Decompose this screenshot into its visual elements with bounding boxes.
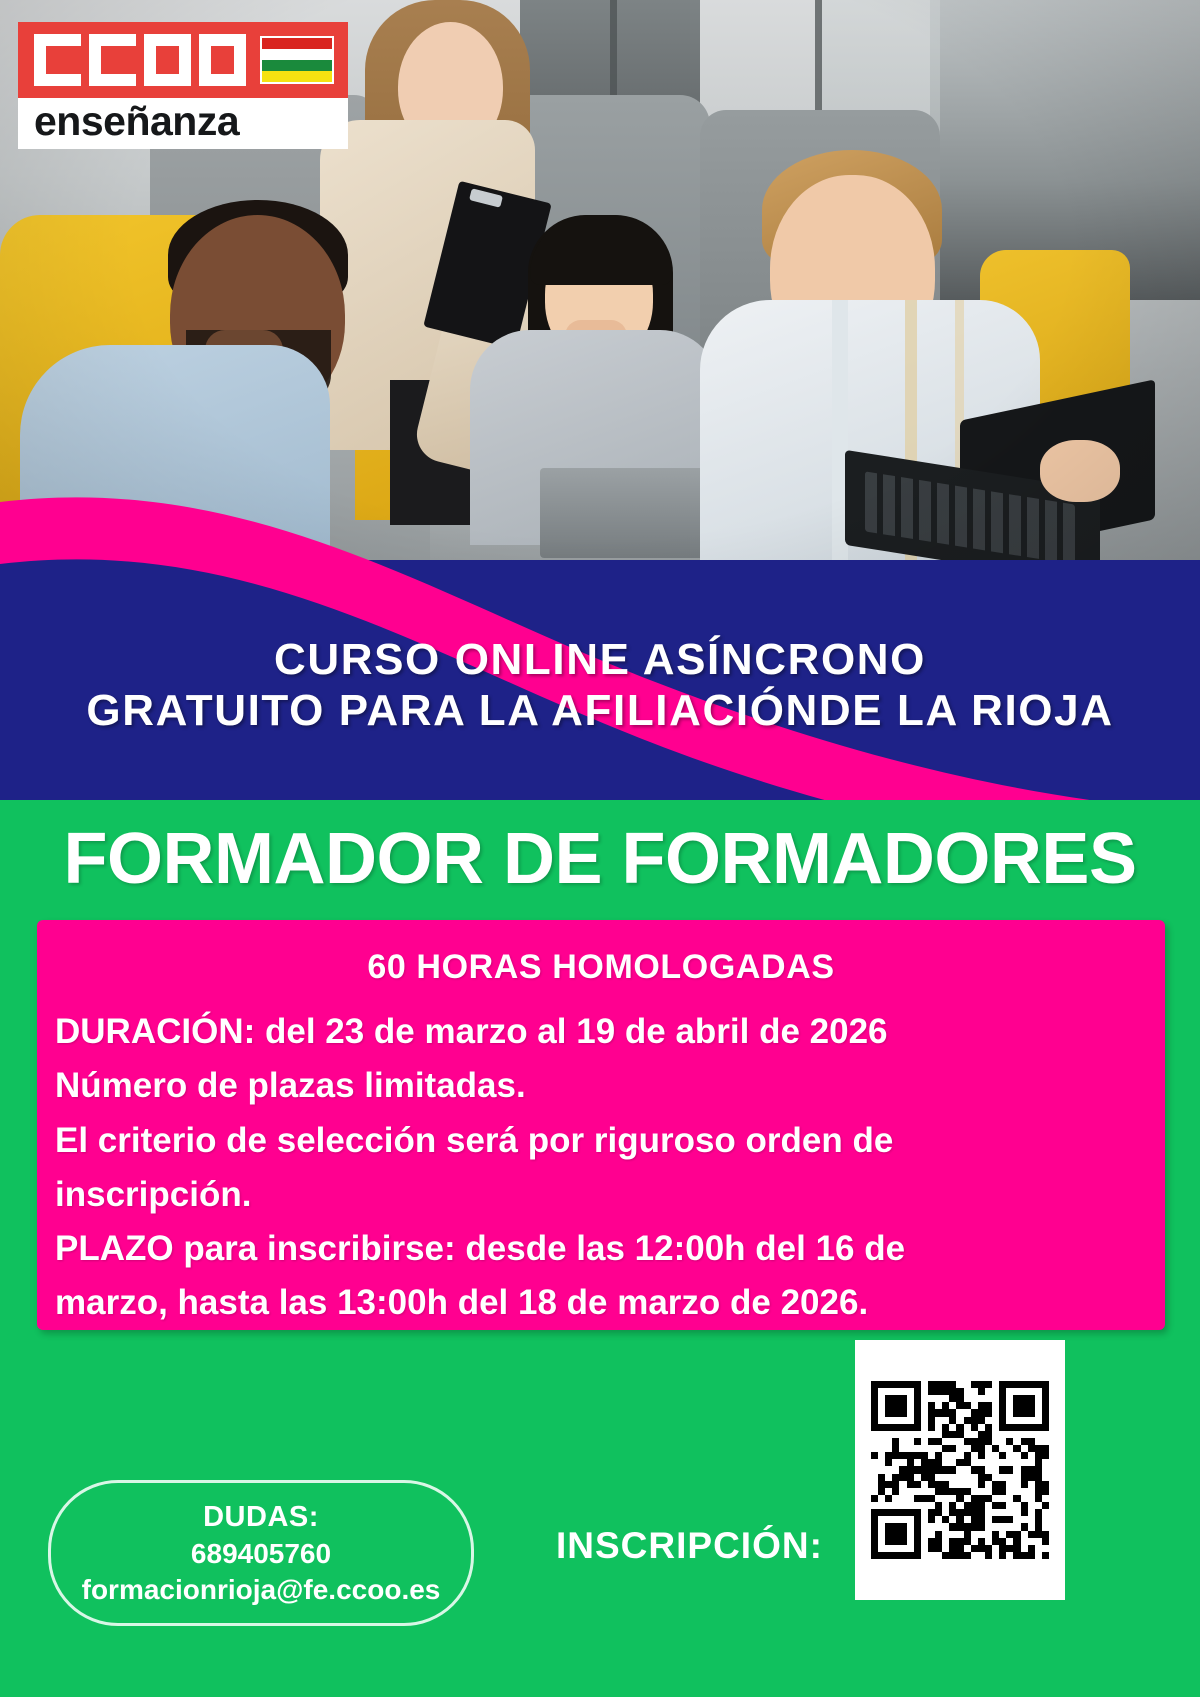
logo-red-bar bbox=[18, 22, 348, 98]
course-details-lines: DURACIÓN: del 23 de marzo al 19 de abril… bbox=[37, 1005, 1165, 1331]
contact-label: DUDAS: bbox=[51, 1501, 471, 1534]
logo-section-label: enseñanza bbox=[18, 98, 348, 149]
detail-line: DURACIÓN: del 23 de marzo al 19 de abril… bbox=[55, 1005, 1153, 1059]
poster: enseñanza CURSO ONLINE ASÍNCRONO GRATUIT… bbox=[0, 0, 1200, 1697]
letter-o-icon bbox=[199, 34, 246, 86]
ccoo-logo: enseñanza bbox=[18, 22, 348, 149]
la-rioja-flag-icon bbox=[260, 36, 334, 84]
banner-title-line2: GRATUITO PARA LA AFILIACIÓNDE LA RIOJA bbox=[0, 685, 1200, 736]
letter-c-icon bbox=[34, 34, 81, 86]
ccoo-wordmark-icon bbox=[34, 34, 246, 86]
wave-shape-icon bbox=[0, 380, 1200, 800]
course-hours: 60 HORAS HOMOLOGADAS bbox=[37, 920, 1165, 987]
contact-info: DUDAS: 689405760 formacionrioja@fe.ccoo.… bbox=[48, 1480, 474, 1626]
detail-line: El criterio de selección será por riguro… bbox=[55, 1114, 1153, 1168]
letter-o-icon bbox=[144, 34, 191, 86]
wave-divider bbox=[0, 380, 1200, 800]
detail-line: PLAZO para inscribirse: desde las 12:00h… bbox=[55, 1222, 1153, 1276]
banner-title-line1: CURSO ONLINE ASÍNCRONO bbox=[274, 635, 926, 684]
qr-code-icon[interactable] bbox=[871, 1381, 1049, 1559]
detail-line: marzo, hasta las 13:00h del 18 de marzo … bbox=[55, 1276, 1153, 1330]
banner-title: CURSO ONLINE ASÍNCRONO GRATUITO PARA LA … bbox=[0, 634, 1200, 737]
letter-c-icon bbox=[89, 34, 136, 86]
detail-line: Número de plazas limitadas. bbox=[55, 1059, 1153, 1113]
qr-card[interactable] bbox=[855, 1340, 1065, 1600]
contact-email[interactable]: formacionrioja@fe.ccoo.es bbox=[51, 1574, 471, 1606]
course-details-box: 60 HORAS HOMOLOGADAS DURACIÓN: del 23 de… bbox=[37, 920, 1165, 1330]
course-title: FORMADOR DE FORMADORES bbox=[0, 818, 1200, 900]
detail-line: inscripción. bbox=[55, 1168, 1153, 1222]
contact-phone[interactable]: 689405760 bbox=[51, 1538, 471, 1570]
signup-label: INSCRIPCIÓN: bbox=[556, 1525, 823, 1567]
